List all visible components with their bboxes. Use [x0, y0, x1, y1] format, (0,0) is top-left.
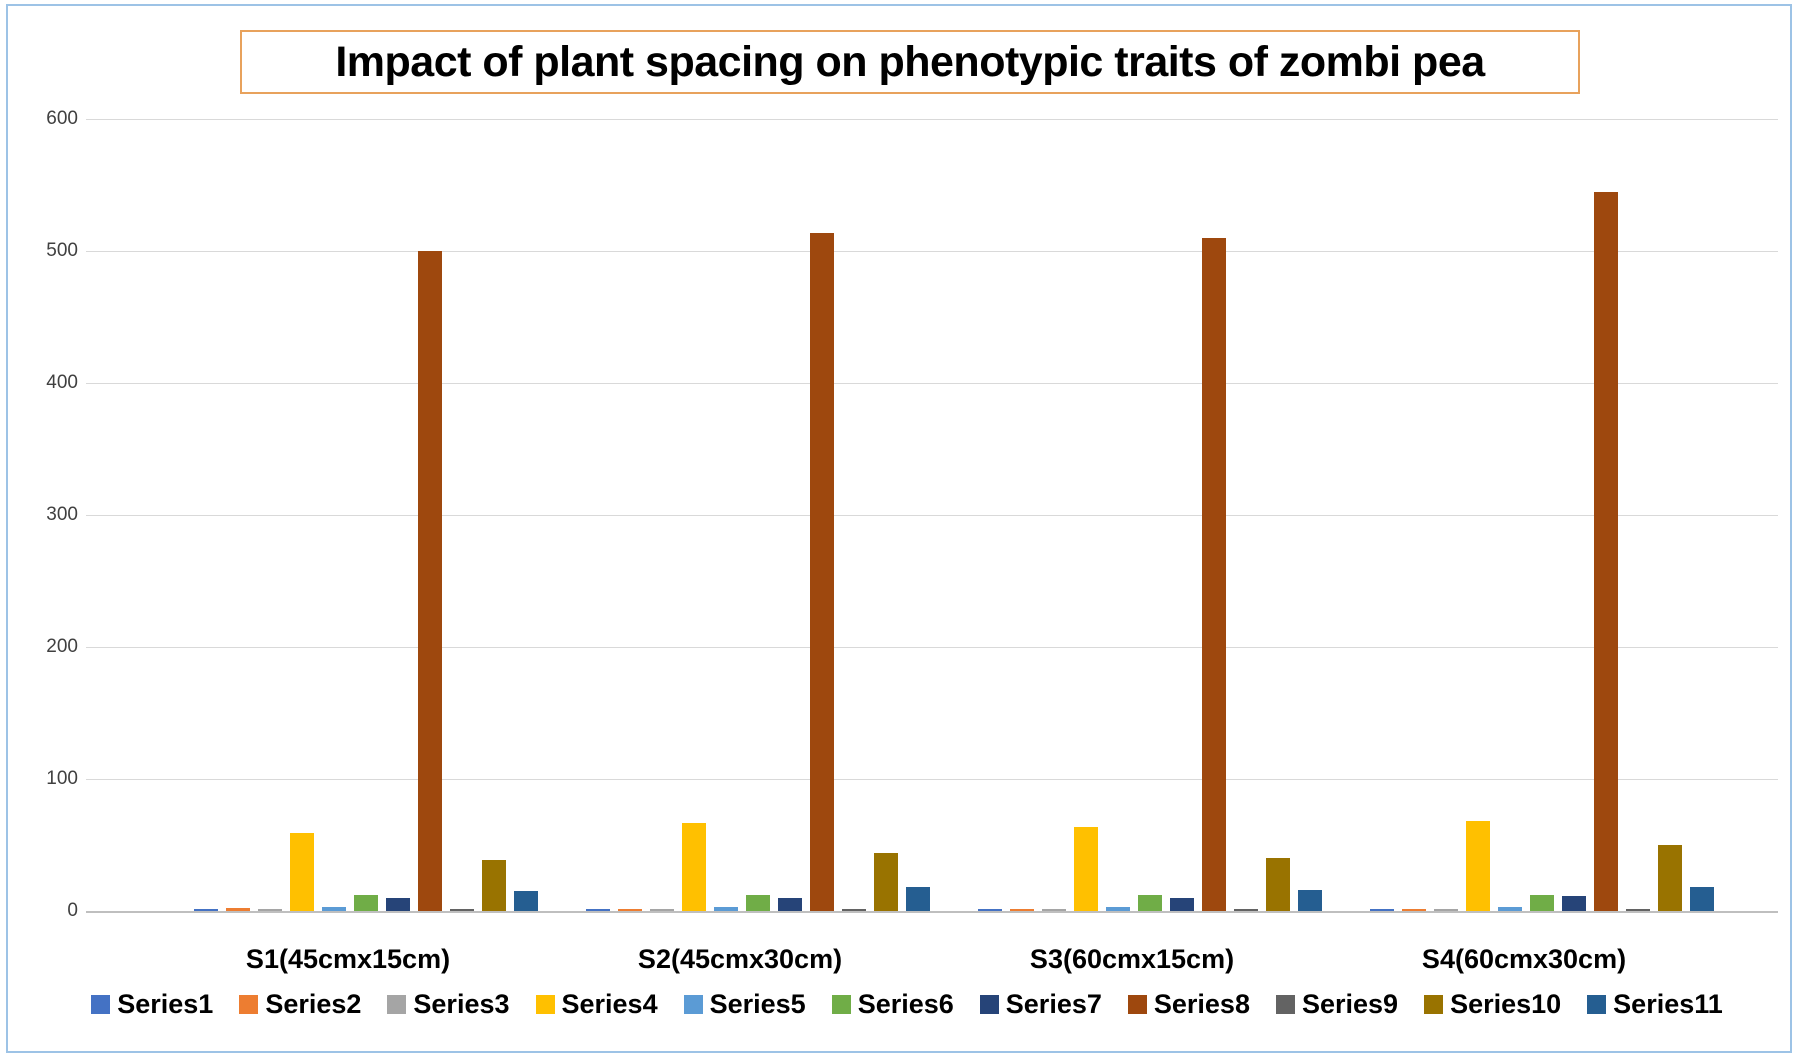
bar-series8-2[interactable] [810, 233, 834, 911]
legend-item-series10[interactable]: Series10 [1424, 989, 1561, 1020]
legend-item-series5[interactable]: Series5 [684, 989, 806, 1020]
bar-series10-3[interactable] [1266, 858, 1290, 911]
bar-group [978, 119, 1330, 911]
legend-item-series2[interactable]: Series2 [239, 989, 361, 1020]
legend-label: Series2 [265, 989, 361, 1020]
legend-label: Series11 [1613, 989, 1723, 1020]
legend-label: Series6 [858, 989, 954, 1020]
bar-series4-3[interactable] [1074, 827, 1098, 911]
x-axis-category-label: S2(45cmx30cm) [638, 944, 842, 975]
bar-series6-2[interactable] [746, 895, 770, 911]
bar-series11-3[interactable] [1298, 890, 1322, 911]
bar-series4-1[interactable] [290, 833, 314, 911]
bar-series7-1[interactable] [386, 898, 410, 911]
y-axis-tick-label: 0 [16, 900, 78, 922]
plot-area [86, 119, 1778, 911]
legend-item-series7[interactable]: Series7 [980, 989, 1102, 1020]
legend-swatch-icon [1424, 995, 1443, 1014]
legend-swatch-icon [1276, 995, 1295, 1014]
legend-swatch-icon [536, 995, 555, 1014]
legend-item-series1[interactable]: Series1 [91, 989, 213, 1020]
legend-label: Series5 [710, 989, 806, 1020]
bar-series10-4[interactable] [1658, 845, 1682, 911]
legend-swatch-icon [91, 995, 110, 1014]
bar-series7-3[interactable] [1170, 898, 1194, 911]
y-axis-tick-label: 600 [16, 108, 78, 130]
bar-series11-4[interactable] [1690, 887, 1714, 911]
legend-item-series8[interactable]: Series8 [1128, 989, 1250, 1020]
bar-series11-2[interactable] [906, 887, 930, 911]
legend-swatch-icon [980, 995, 999, 1014]
legend-label: Series9 [1302, 989, 1398, 1020]
x-axis-category-label: S1(45cmx15cm) [246, 944, 450, 975]
bar-series10-1[interactable] [482, 860, 506, 911]
legend-item-series9[interactable]: Series9 [1276, 989, 1398, 1020]
chart-screenshot: Impact of plant spacing on phenotypic tr… [0, 0, 1798, 1059]
legend-swatch-icon [1587, 995, 1606, 1014]
y-axis-tick-label: 300 [16, 504, 78, 526]
bar-series6-1[interactable] [354, 895, 378, 911]
bar-group [1370, 119, 1722, 911]
legend-label: Series3 [413, 989, 509, 1020]
bar-series6-4[interactable] [1530, 895, 1554, 911]
y-axis-tick-label: 100 [16, 768, 78, 790]
legend-label: Series4 [562, 989, 658, 1020]
legend-label: Series10 [1450, 989, 1561, 1020]
legend-item-series3[interactable]: Series3 [387, 989, 509, 1020]
y-axis-tick-label: 200 [16, 636, 78, 658]
legend-label: Series7 [1006, 989, 1102, 1020]
bar-series4-4[interactable] [1466, 821, 1490, 911]
legend-label: Series1 [117, 989, 213, 1020]
bar-group [194, 119, 546, 911]
legend-swatch-icon [1128, 995, 1147, 1014]
legend-label: Series8 [1154, 989, 1250, 1020]
bar-group [586, 119, 938, 911]
x-axis-line [86, 911, 1778, 913]
bar-series8-3[interactable] [1202, 238, 1226, 911]
chart-title-box: Impact of plant spacing on phenotypic tr… [240, 30, 1580, 94]
legend-item-series4[interactable]: Series4 [536, 989, 658, 1020]
bar-series11-1[interactable] [514, 891, 538, 911]
bar-series7-4[interactable] [1562, 896, 1586, 911]
page-title: Impact of plant spacing on phenotypic tr… [335, 38, 1484, 87]
legend-item-series6[interactable]: Series6 [832, 989, 954, 1020]
x-axis-category-label: S4(60cmx30cm) [1422, 944, 1626, 975]
bar-series10-2[interactable] [874, 853, 898, 911]
legend-item-series11[interactable]: Series11 [1587, 989, 1723, 1020]
bar-series4-2[interactable] [682, 823, 706, 911]
y-axis-tick-label: 500 [16, 240, 78, 262]
x-axis-category-label: S3(60cmx15cm) [1030, 944, 1234, 975]
legend-swatch-icon [684, 995, 703, 1014]
legend-swatch-icon [387, 995, 406, 1014]
chart-frame: Impact of plant spacing on phenotypic tr… [6, 4, 1792, 1053]
y-axis: 6005004003002001000 [8, 106, 78, 926]
bar-series7-2[interactable] [778, 898, 802, 911]
legend-swatch-icon [239, 995, 258, 1014]
bar-series8-1[interactable] [418, 251, 442, 911]
legend-swatch-icon [832, 995, 851, 1014]
chart-legend: Series1Series2Series3Series4Series5Serie… [8, 989, 1798, 1020]
y-axis-tick-label: 400 [16, 372, 78, 394]
bar-series6-3[interactable] [1138, 895, 1162, 911]
bar-series8-4[interactable] [1594, 192, 1618, 911]
